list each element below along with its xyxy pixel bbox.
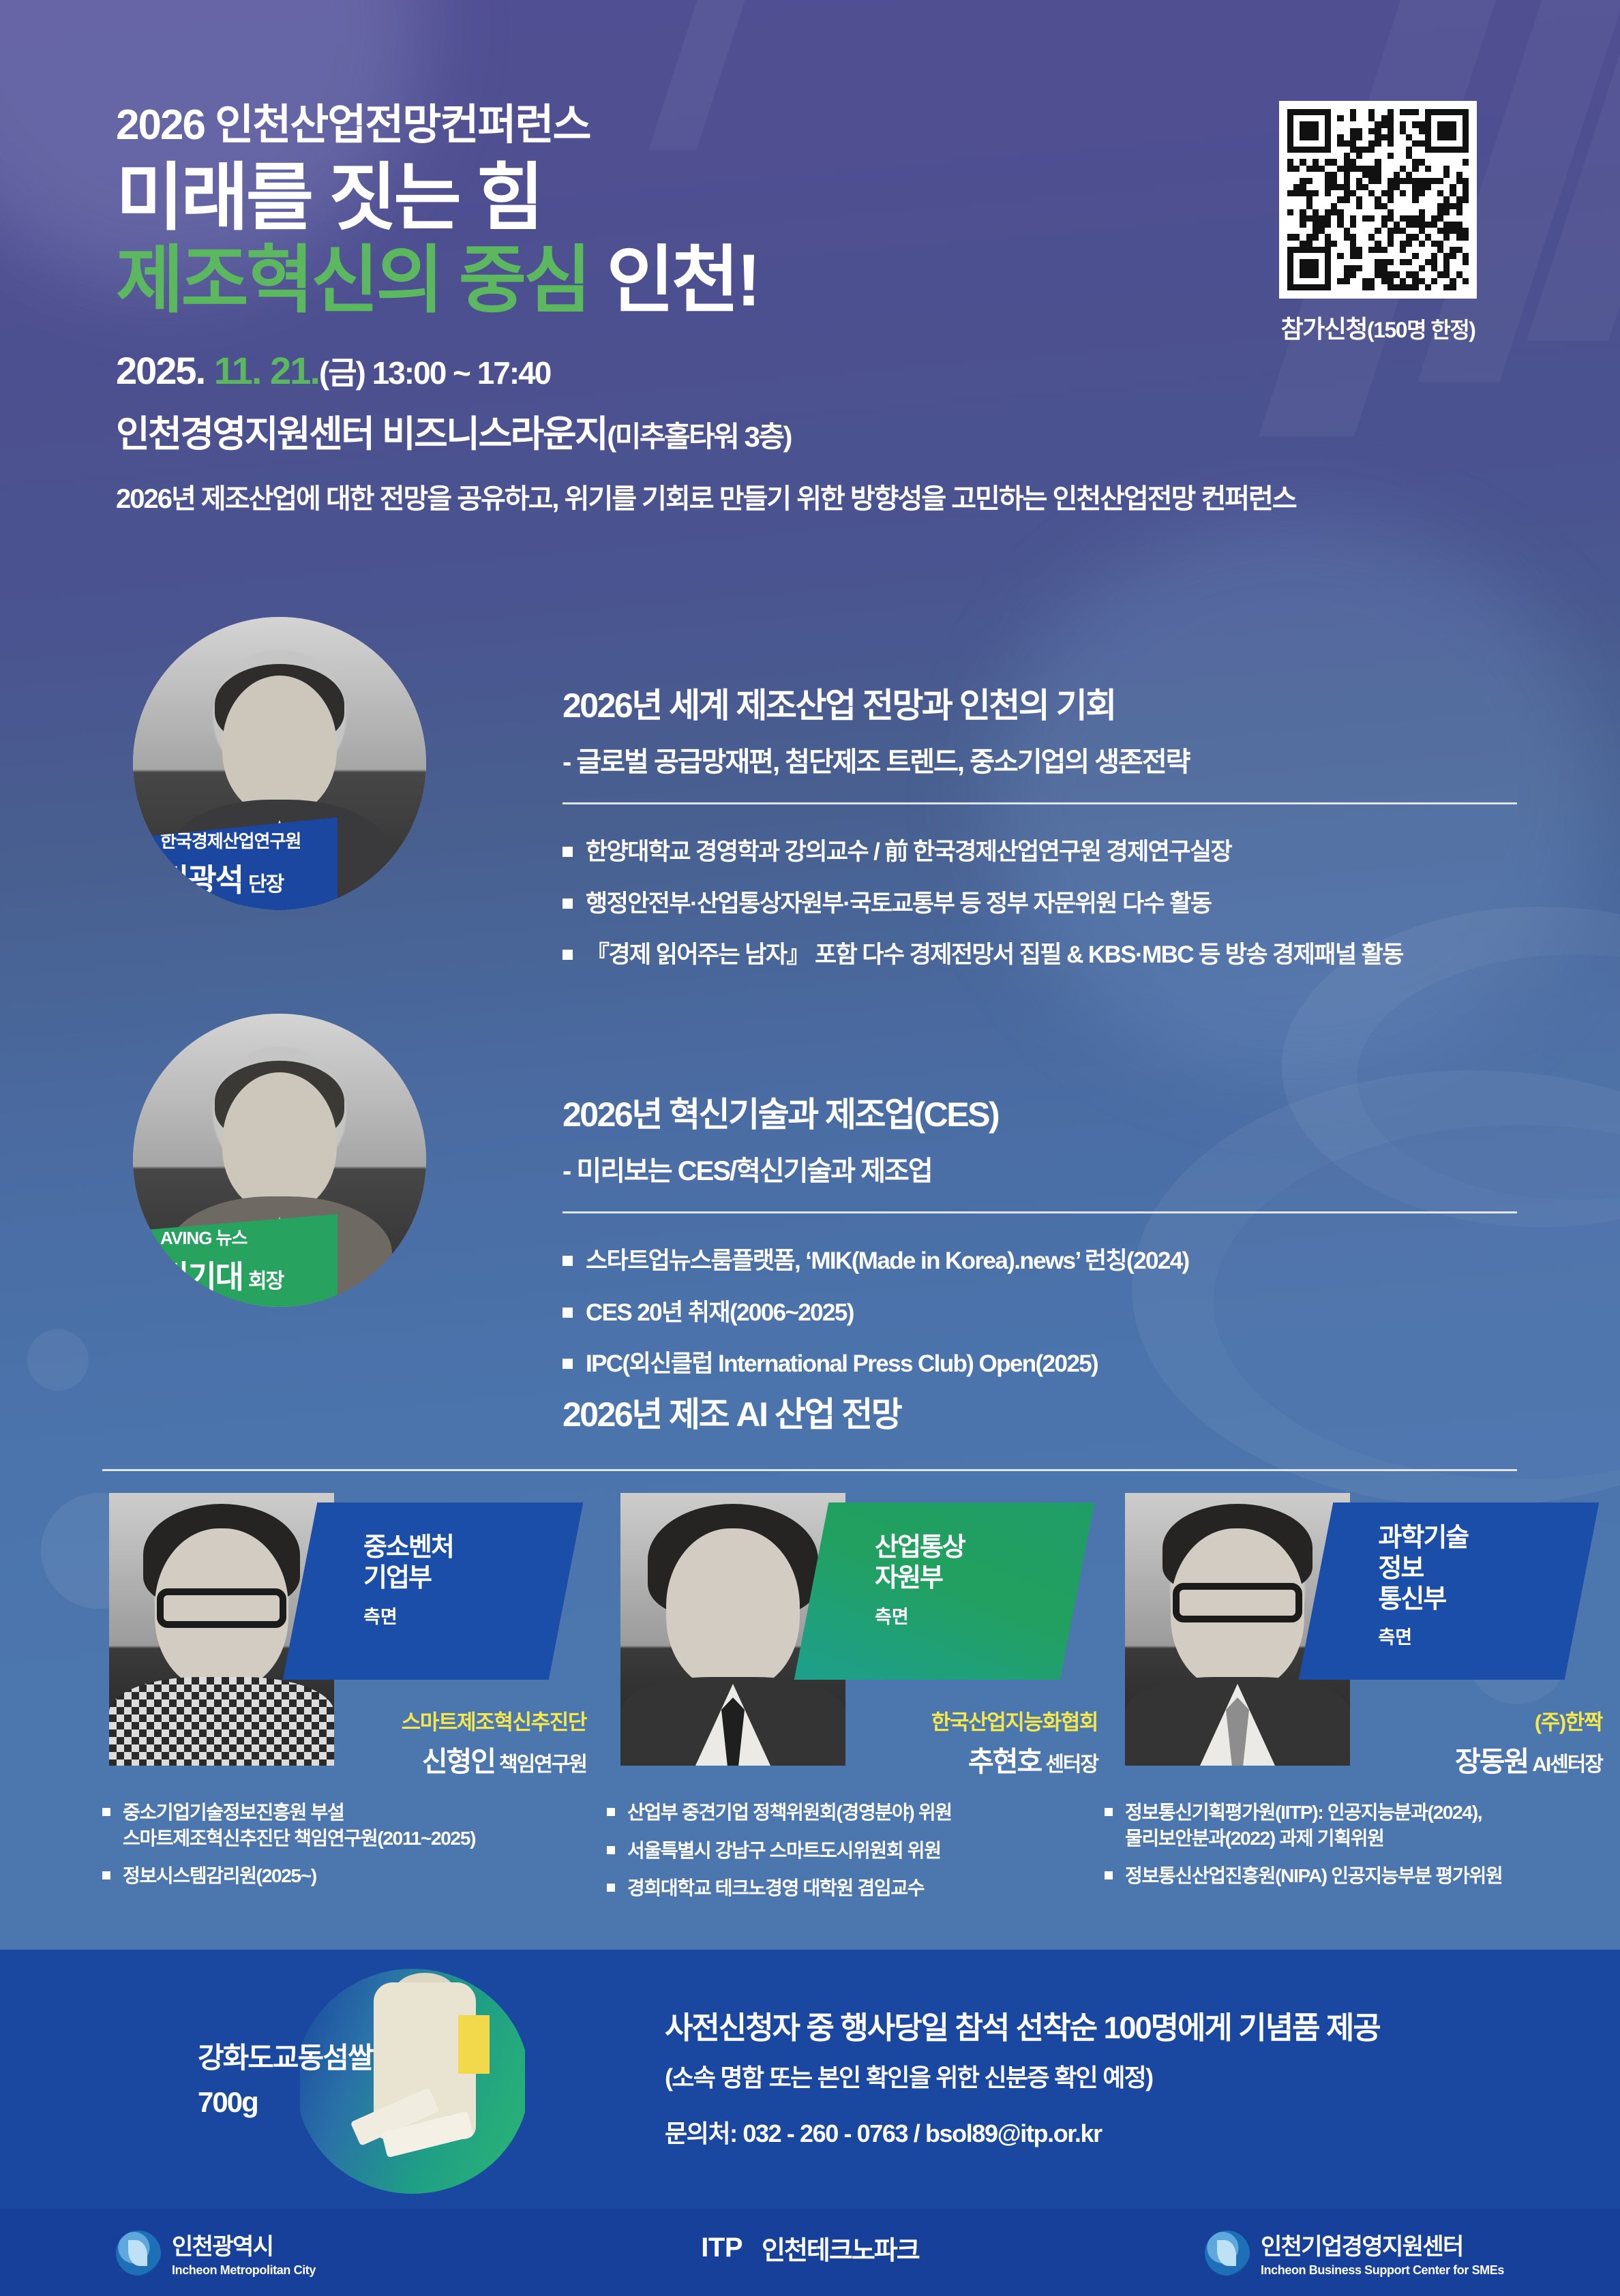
date-day: 21.: [270, 349, 319, 392]
speaker-2-bullets: 스타트업뉴스룸플랫폼, ‘MIK(Made in Korea).news’ 런칭…: [562, 1245, 1517, 1380]
panelist-3-org: (주)한짝: [1455, 1705, 1602, 1736]
speaker-1-subtitle: - 글로벌 공급망재편, 첨단제조 트렌드, 중소기업의 생존전략: [562, 740, 1517, 779]
gift-info: 사전신청자 중 행사당일 참석 선착순 100명에게 기념품 제공 (소속 명함…: [665, 2003, 1380, 2149]
event-description: 2026년 제조산업에 대한 전망을 공유하고, 위기를 기회로 만들기 위한 …: [116, 477, 1207, 516]
gift-banner: 강화도교동섬쌀 700g 사전신청자 중 행사당일 참석 선착순 100명에게 …: [0, 1950, 1620, 2209]
speaker-2-name: 김기대회장: [160, 1252, 337, 1297]
panelist-2-ministry-tag: 산업통상 자원부 측면: [794, 1502, 1095, 1680]
panelist-2-name: 추현호센터장: [931, 1738, 1098, 1779]
logo-incheon-city: 인천광역시 Incheon Metropolitan City: [116, 2228, 316, 2278]
panelist-3-bullets: 정보통신기획평가원(IITP): 인공지능분과(2024), 물리보안분과(20…: [1105, 1800, 1609, 1901]
registration-qr-block[interactable]: 참가신청(150명 한정): [1279, 101, 1477, 345]
speaker-1-bullets: 한양대학교 경영학과 강의교수 / 前 한국경제산업연구원 경제연구실장 행정안…: [562, 836, 1517, 971]
panelist-2-bullets: 산업부 중견기업 정책위원회(경영분야) 위원 서울특별시 강남구 스마트도시위…: [607, 1800, 1057, 1914]
panelist-1-ministry: 중소벤처 기업부: [363, 1532, 568, 1594]
title-line-1: 미래를 짓는 힘: [116, 157, 1207, 239]
logo-left-ko: 인천광역시: [172, 2228, 316, 2261]
list-item: IPC(외신클럽 International Press Club) Open(…: [562, 1348, 1517, 1380]
speaker-2-title: 2026년 혁신기술과 제조업(CES): [562, 1087, 1517, 1136]
poster-footer: 인천광역시 Incheon Metropolitan City ITP 인천테크…: [0, 2209, 1620, 2296]
list-item: 중소기업기술정보진흥원 부설 스마트제조혁신추진단 책임연구원(2011~202…: [102, 1800, 580, 1851]
qr-label-main: 참가신청: [1281, 315, 1367, 343]
logo-business-support-center: 인천기업경영지원센터 Incheon Business Support Cent…: [1205, 2228, 1504, 2278]
gift-info-line-1: 사전신청자 중 행사당일 참석 선착순 100명에게 기념품 제공: [665, 2003, 1380, 2047]
support-center-mark-icon: [1205, 2231, 1250, 2276]
list-item: 경희대학교 테크노경영 대학원 겸임교수: [607, 1875, 1057, 1901]
speaker-1-name: 김광석단장: [160, 856, 337, 901]
date-rest: (금) 13:00 ~ 17:40: [319, 355, 550, 391]
logo-left-en: Incheon Metropolitan City: [172, 2263, 316, 2278]
panelist-3-ministry: 과학기술 정보 통신부: [1378, 1523, 1582, 1614]
list-item: 산업부 중견기업 정책위원회(경영분야) 위원: [607, 1800, 1057, 1826]
divider: [562, 802, 1517, 804]
event-date: 2025. 11. 21.(금) 13:00 ~ 17:40: [116, 348, 1207, 394]
venue-main: 인천경영지원센터 비즈니스라운지: [116, 414, 607, 455]
panelist-1-name-block: 스마트제조혁신추진단 신형인책임연구원: [402, 1705, 586, 1779]
list-item: 정보시스템감리원(2025~): [102, 1863, 580, 1889]
panelist-3-ministry-tag: 과학기술 정보 통신부 측면: [1299, 1502, 1600, 1680]
panelist-2-role: 센터장: [1045, 1753, 1098, 1776]
event-kicker: 2026 인천산업전망컨퍼런스: [116, 102, 1207, 149]
panelist-3-name-block: (주)한짝 장동원AI센터장: [1455, 1705, 1602, 1779]
list-item: 한양대학교 경영학과 강의교수 / 前 한국경제산업연구원 경제연구실장: [562, 836, 1517, 868]
list-item: 정보통신기획평가원(IITP): 인공지능분과(2024), 물리보안분과(20…: [1105, 1800, 1609, 1851]
speaker-2-org: AVING 뉴스: [160, 1224, 337, 1250]
list-item: 행정안전부·산업통상자원부·국토교통부 등 정부 자문위원 다수 활동: [562, 888, 1517, 920]
gift-weight: 700g: [198, 2080, 402, 2124]
panelist-1-ministry-tag: 중소벤처 기업부 측면: [283, 1502, 584, 1680]
panelist-1-side: 측면: [363, 1602, 568, 1629]
poster-header: 2026 인천산업전망컨퍼런스 미래를 짓는 힘 제조혁신의 중심 인천! 20…: [116, 102, 1207, 516]
panelist-1-name: 신형인책임연구원: [402, 1738, 586, 1779]
panelist-1-org: 스마트제조혁신추진단: [402, 1705, 586, 1736]
panelist-1-role: 책임연구원: [499, 1753, 586, 1776]
divider: [562, 1211, 1517, 1213]
list-item: 정보통신산업진흥원(NIPA) 인공지능부분 평가위원: [1105, 1863, 1609, 1889]
gift-info-line-2: (소속 명함 또는 본인 확인을 위한 신분증 확인 예정): [665, 2058, 1380, 2094]
speaker-1-portrait: 한국경제산업연구원 김광석단장: [133, 617, 426, 910]
speaker-1-details: 2026년 세계 제조산업 전망과 인천의 기회 - 글로벌 공급망재편, 첨단…: [562, 678, 1517, 991]
panelist-3-role: AI센터장: [1532, 1753, 1602, 1776]
logo-right-ko: 인천기업경영지원센터: [1261, 2228, 1504, 2261]
speaker-2-portrait: AVING 뉴스 김기대회장: [133, 1014, 426, 1307]
divider: [102, 1469, 1517, 1471]
speaker-2-role: 회장: [248, 1270, 283, 1293]
panelist-2-ministry: 산업통상 자원부: [875, 1532, 1079, 1594]
gift-caption: 강화도교동섬쌀 700g: [198, 2036, 402, 2124]
conference-poster: 2026 인천산업전망컨퍼런스 미래를 짓는 힘 제조혁신의 중심 인천! 20…: [0, 0, 1620, 2296]
gift-name: 강화도교동섬쌀: [198, 2036, 402, 2080]
panelist-1-bullets: 중소기업기술정보진흥원 부설 스마트제조혁신추진단 책임연구원(2011~202…: [102, 1800, 580, 1901]
panelist-2-org: 한국산업지능화협회: [931, 1705, 1098, 1736]
date-month: 11.: [214, 349, 270, 392]
panelist-2: 산업통상 자원부 측면 한국산업지능화협회 추현호센터장: [607, 1493, 1098, 1779]
rice-sack-tag: [458, 2015, 490, 2074]
contact-line[interactable]: 문의처: 032 - 260 - 0763 / bsol89@itp.or.kr: [665, 2114, 1380, 2149]
date-year: 2025.: [116, 349, 214, 392]
panelist-3-name: 장동원AI센터장: [1455, 1738, 1602, 1779]
title-line-2-green: 제조혁신의 중심: [116, 239, 589, 321]
venue-sub: (미추홀타워 3층): [607, 421, 791, 453]
list-item: 서울특별시 강남구 스마트도시위원회 위원: [607, 1838, 1057, 1864]
logo-center-ko: 인천테크노파크: [762, 2229, 919, 2267]
list-item: 스타트업뉴스룸플랫폼, ‘MIK(Made in Korea).news’ 런칭…: [562, 1245, 1517, 1278]
section-3-title: 2026년 제조 AI 산업 전망: [562, 1387, 901, 1436]
qr-label-sub: (150명 한정): [1367, 318, 1475, 342]
speaker-1-title: 2026년 세계 제조산업 전망과 인천의 기회: [562, 678, 1517, 727]
panelist-2-name-block: 한국산업지능화협회 추현호센터장: [931, 1705, 1098, 1779]
logo-center-abbr: ITP: [701, 2233, 742, 2263]
event-venue: 인천경영지원센터 비즈니스라운지(미추홀타워 3층): [116, 404, 1207, 457]
panelist-3-side: 측면: [1378, 1622, 1582, 1649]
panelist-3: 과학기술 정보 통신부 측면 (주)한짝 장동원AI센터장: [1111, 1493, 1602, 1779]
incheon-city-mark-icon: [116, 2231, 161, 2276]
panelist-1: 중소벤처 기업부 측면 스마트제조혁신추진단 신형인책임연구원: [95, 1493, 586, 1779]
qr-label: 참가신청(150명 한정): [1279, 309, 1477, 345]
speaker-2-details: 2026년 혁신기술과 제조업(CES) - 미리보는 CES/혁신기술과 제조…: [562, 1087, 1517, 1400]
logo-itp: ITP 인천테크노파크: [701, 2229, 918, 2267]
logo-right-en: Incheon Business Support Center for SMEs: [1261, 2263, 1504, 2278]
list-item: CES 20년 취재(2006~2025): [562, 1297, 1517, 1329]
speaker-1-role: 단장: [248, 873, 283, 896]
title-line-2-white: 인천!: [607, 239, 759, 321]
title-line-2: 제조혁신의 중심 인천!: [116, 239, 1207, 322]
speaker-2-subtitle: - 미리보는 CES/혁신기술과 제조업: [562, 1149, 1517, 1188]
qr-code[interactable]: [1279, 101, 1477, 299]
panelist-2-side: 측면: [875, 1602, 1079, 1629]
list-item: 『경제 읽어주는 남자』 포함 다수 경제전망서 집필 & KBS·MBC 등 …: [562, 939, 1517, 971]
